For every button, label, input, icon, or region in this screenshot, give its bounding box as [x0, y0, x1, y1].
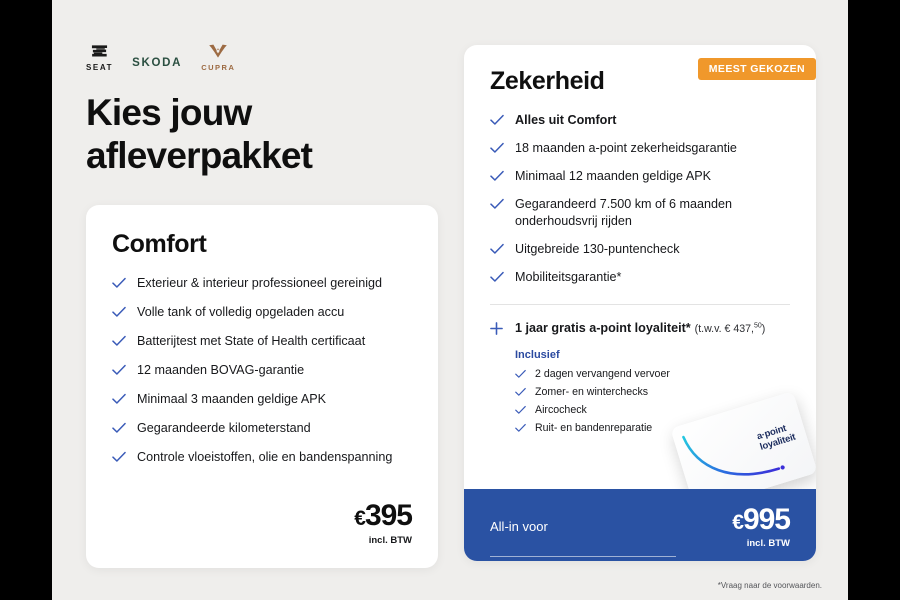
- check-icon: [112, 451, 126, 463]
- comfort-feature-list: Exterieur & interieur professioneel gere…: [112, 275, 412, 466]
- feature-label: Minimaal 12 maanden geldige APK: [515, 169, 711, 183]
- bonus-value: (t.w.v. € 437,50): [695, 323, 766, 335]
- check-icon: [490, 114, 504, 126]
- cupra-emblem-icon: [208, 44, 228, 60]
- zekerheid-feature-item: Uitgebreide 130-puntencheck: [490, 241, 790, 258]
- feature-label: Batterijtest met State of Health certifi…: [137, 334, 365, 348]
- inclusief-item: Zomer- en winterchecks: [515, 386, 790, 398]
- inclusief-label: Aircocheck: [535, 404, 587, 416]
- comfort-price-amount: €395: [354, 501, 412, 531]
- feature-label: Gegarandeerd 7.500 km of 6 maanden onder…: [515, 197, 732, 228]
- check-icon: [515, 405, 526, 415]
- bonus-label: 1 jaar gratis a-point loyaliteit*: [515, 321, 691, 335]
- comfort-feature-item: 12 maanden BOVAG-garantie: [112, 362, 412, 379]
- comfort-feature-item: Minimaal 3 maanden geldige APK: [112, 391, 412, 408]
- bonus-value-prefix: (t.w.v. € 437,: [695, 323, 754, 335]
- feature-label: Exterieur & interieur professioneel gere…: [137, 276, 382, 290]
- comfort-price-note: incl. BTW: [354, 535, 412, 546]
- inclusief-label: Zomer- en winterchecks: [535, 386, 648, 398]
- zekerheid-feature-list: Alles uit Comfort18 maanden a-point zeke…: [490, 112, 790, 286]
- status-badge-meest-gekozen: MEEST GEKOZEN: [698, 58, 816, 80]
- page-title: Kies jouw afleverpakket: [86, 92, 416, 178]
- feature-label: Controle vloeistoffen, olie en bandenspa…: [137, 450, 392, 464]
- comfort-price-block: €395 incl. BTW: [354, 501, 412, 546]
- check-icon: [490, 142, 504, 154]
- footnote-text: *Vraag naar de voorwaarden.: [718, 581, 822, 590]
- brand-logo-row: SEAT SKODA CUPRA: [86, 38, 235, 72]
- feature-label: 18 maanden a-point zekerheidsgarantie: [515, 141, 737, 155]
- check-icon: [112, 335, 126, 347]
- check-icon: [515, 423, 526, 433]
- inclusief-label: Ruit- en bandenreparatie: [535, 422, 652, 434]
- feature-label: Alles uit Comfort: [515, 113, 616, 127]
- seat-logo: SEAT: [86, 44, 113, 72]
- check-icon: [112, 393, 126, 405]
- check-icon: [112, 364, 126, 376]
- inclusief-item: 2 dagen vervangend vervoer: [515, 368, 790, 380]
- inclusief-block: Inclusief 2 dagen vervangend vervoerZome…: [490, 349, 790, 434]
- inclusief-label: 2 dagen vervangend vervoer: [535, 368, 670, 380]
- zekerheid-feature-item: Minimaal 12 maanden geldige APK: [490, 168, 790, 185]
- check-icon: [112, 306, 126, 318]
- zekerheid-price-amount: €995: [732, 505, 790, 535]
- cupra-wordmark: CUPRA: [201, 63, 235, 72]
- plus-icon: [490, 322, 503, 335]
- feature-label: Minimaal 3 maanden geldige APK: [137, 392, 326, 406]
- bonus-value-suffix: ): [762, 323, 766, 335]
- comfort-feature-item: Exterieur & interieur professioneel gere…: [112, 275, 412, 292]
- zekerheid-currency: €: [732, 511, 743, 534]
- feature-label: 12 maanden BOVAG-garantie: [137, 363, 304, 377]
- package-card-comfort[interactable]: Comfort Exterieur & interieur profession…: [86, 205, 438, 568]
- inclusief-title: Inclusief: [515, 349, 790, 361]
- inclusief-item: Aircocheck: [515, 404, 790, 416]
- inclusief-list: 2 dagen vervangend vervoerZomer- en wint…: [515, 368, 790, 434]
- comfort-feature-item: Volle tank of volledig opgeladen accu: [112, 304, 412, 321]
- zekerheid-feature-item: Alles uit Comfort: [490, 112, 790, 129]
- screenshot-stage: SEAT SKODA CUPRA Kies jouw afleverpakket…: [0, 0, 900, 600]
- comfort-price-value: 395: [365, 499, 412, 532]
- bonus-row: 1 jaar gratis a-point loyaliteit*(t.w.v.…: [490, 321, 790, 335]
- check-icon: [490, 271, 504, 283]
- comfort-currency: €: [354, 507, 365, 530]
- check-icon: [490, 170, 504, 182]
- feature-label: Volle tank of volledig opgeladen accu: [137, 305, 344, 319]
- package-card-zekerheid[interactable]: MEEST GEKOZEN Zekerheid Alles uit Comfor…: [464, 45, 816, 561]
- skoda-logo: SKODA: [132, 57, 182, 72]
- seat-emblem-icon: [90, 44, 109, 61]
- seat-wordmark: SEAT: [86, 63, 113, 72]
- bonus-value-cents: 50: [754, 322, 762, 329]
- footer-underline: [490, 556, 676, 557]
- check-icon: [490, 198, 504, 210]
- check-icon: [112, 422, 126, 434]
- comfort-feature-item: Gegarandeerde kilometerstand: [112, 420, 412, 437]
- check-icon: [515, 369, 526, 379]
- content-canvas: SEAT SKODA CUPRA Kies jouw afleverpakket…: [52, 0, 848, 600]
- zekerheid-price-block: €995 incl. BTW: [732, 505, 790, 549]
- inclusief-item: Ruit- en bandenreparatie: [515, 422, 790, 434]
- zekerheid-price-note: incl. BTW: [732, 538, 790, 549]
- comfort-feature-item: Batterijtest met State of Health certifi…: [112, 333, 412, 350]
- feature-label: Uitgebreide 130-puntencheck: [515, 242, 680, 256]
- zekerheid-feature-item: 18 maanden a-point zekerheidsgarantie: [490, 140, 790, 157]
- feature-label: Gegarandeerde kilometerstand: [137, 421, 311, 435]
- zekerheid-price-value: 995: [743, 503, 790, 536]
- check-icon: [112, 277, 126, 289]
- section-divider: [490, 304, 790, 305]
- zekerheid-price-footer: All-in voor €995 incl. BTW: [464, 489, 816, 561]
- zekerheid-price-row: All-in voor €995 incl. BTW: [490, 505, 790, 549]
- zekerheid-body: MEEST GEKOZEN Zekerheid Alles uit Comfor…: [464, 45, 816, 434]
- comfort-feature-item: Controle vloeistoffen, olie en bandenspa…: [112, 449, 412, 466]
- zekerheid-feature-item: Gegarandeerd 7.500 km of 6 maanden onder…: [490, 196, 790, 230]
- comfort-title: Comfort: [112, 230, 412, 259]
- check-icon: [515, 387, 526, 397]
- zekerheid-feature-item: Mobiliteitsgarantie*: [490, 269, 790, 286]
- skoda-wordmark: SKODA: [132, 57, 182, 69]
- cupra-logo: CUPRA: [201, 44, 235, 72]
- check-icon: [490, 243, 504, 255]
- zekerheid-footer-label: All-in voor: [490, 505, 548, 534]
- feature-label: Mobiliteitsgarantie*: [515, 270, 621, 284]
